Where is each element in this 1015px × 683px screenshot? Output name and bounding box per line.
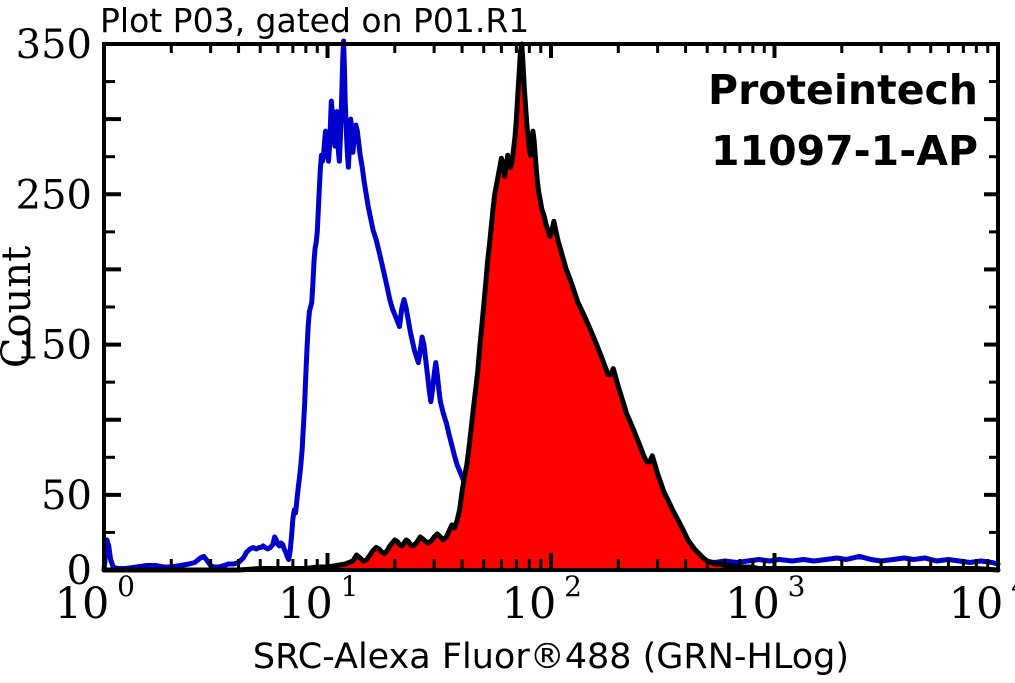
y-tick-label: 0 [67, 548, 92, 594]
y-axis-label: Count [0, 246, 40, 368]
x-tick-label-exponent: 4 [1011, 570, 1015, 603]
x-tick-label-exponent: 3 [788, 570, 806, 603]
flow-cytometry-histogram: 100101102103104 050150250350 Plot P03, g… [0, 0, 1015, 683]
x-tick-label-mantissa: 10 [949, 579, 1004, 629]
catalog-number-label: 11097-1-AP [711, 127, 978, 175]
x-axis-label: SRC-Alexa Fluor®488 (GRN-HLog) [253, 637, 849, 677]
x-tick-label-mantissa: 10 [278, 579, 333, 629]
x-tick-label-mantissa: 10 [502, 579, 557, 629]
x-tick-label-exponent: 1 [341, 570, 359, 603]
brand-name-label: Proteintech [708, 66, 978, 114]
plot-title: Plot P03, gated on P01.R1 [100, 1, 529, 40]
y-tick-label: 250 [16, 172, 92, 218]
x-tick-label-mantissa: 10 [725, 579, 780, 629]
y-tick-label: 50 [41, 473, 92, 519]
chart-svg: 100101102103104 050150250350 Plot P03, g… [0, 0, 1015, 683]
x-tick-label-exponent: 2 [564, 570, 582, 603]
x-tick-label-exponent: 0 [117, 570, 135, 603]
y-tick-label: 350 [16, 22, 92, 68]
